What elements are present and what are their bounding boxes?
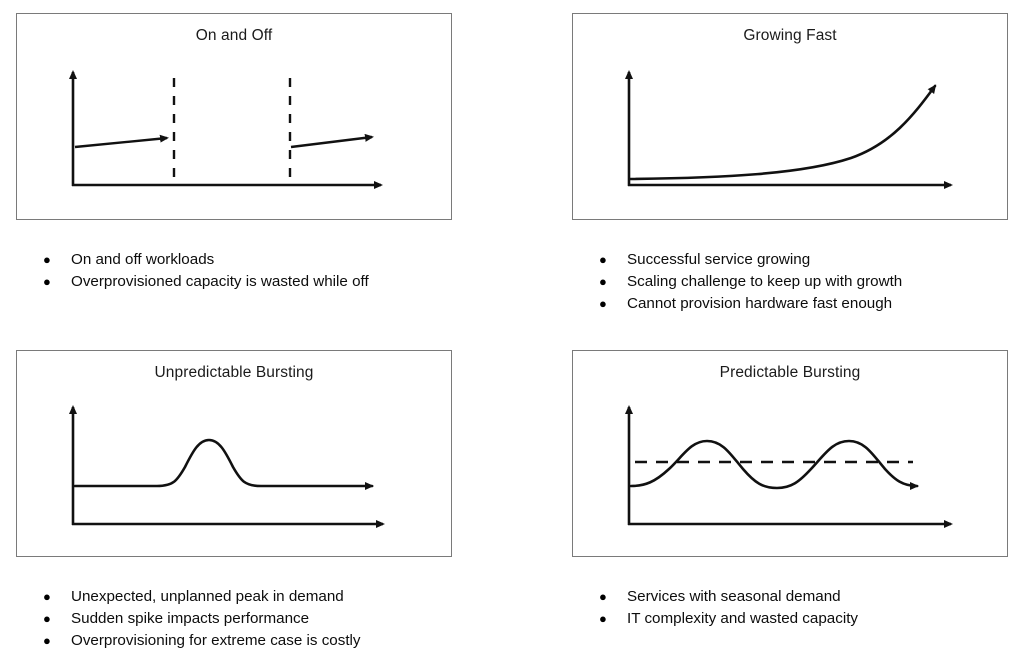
list-item: ● IT complexity and wasted capacity [599,608,858,630]
chart-on-and-off [17,48,453,218]
bullet-icon: ● [43,249,71,271]
bullet-icon: ● [43,586,71,608]
list-item: ● Cannot provision hardware fast enough [599,293,902,315]
list-item: ● Overprovisioned capacity is wasted whi… [43,271,369,293]
list-item: ● Unexpected, unplanned peak in demand [43,586,361,608]
bullet-icon: ● [43,630,71,652]
workload-pattern-grid: On and Off [0,0,1024,663]
bullet-text: IT complexity and wasted capacity [627,608,858,630]
chart-unpredictable-bursting [17,385,453,555]
bullet-icon: ● [43,608,71,630]
seasonal-demand-curve [631,441,917,488]
bullet-icon: ● [599,586,627,608]
list-item: ● Overprovisioning for extreme case is c… [43,630,361,652]
chart-title-unpredictable-bursting: Unpredictable Bursting [17,363,451,382]
bullet-list-growing-fast: ● Successful service growing ● Scaling c… [599,249,902,315]
chart-card-on-and-off: On and Off [16,13,452,220]
bullet-text: Cannot provision hardware fast enough [627,293,892,315]
panel-growing-fast: Growing Fast ● Successful service growin… [572,13,1008,220]
usage-segment-1 [75,138,167,147]
chart-growing-fast [573,48,1009,218]
bullet-list-on-and-off: ● On and off workloads ● Overprovisioned… [43,249,369,293]
bullet-text: Overprovisioned capacity is wasted while… [71,271,369,293]
list-item: ● Sudden spike impacts performance [43,608,361,630]
bullet-text: Scaling challenge to keep up with growth [627,271,902,293]
bullet-text: Unexpected, unplanned peak in demand [71,586,344,608]
exponential-growth-curve [630,86,935,179]
bullet-text: Overprovisioning for extreme case is cos… [71,630,361,652]
chart-card-predictable-bursting: Predictable Bursting [572,350,1008,557]
chart-title-predictable-bursting: Predictable Bursting [573,363,1007,382]
chart-title-growing-fast: Growing Fast [573,26,1007,45]
bullet-list-predictable-bursting: ● Services with seasonal demand ● IT com… [599,586,858,630]
list-item: ● On and off workloads [43,249,369,271]
bullet-text: Successful service growing [627,249,810,271]
panel-on-and-off: On and Off [16,13,452,220]
bullet-icon: ● [599,271,627,293]
list-item: ● Successful service growing [599,249,902,271]
chart-card-growing-fast: Growing Fast [572,13,1008,220]
chart-predictable-bursting [573,385,1009,555]
panel-unpredictable-bursting: Unpredictable Bursting ● Unexpected, unp… [16,350,452,557]
bullet-icon: ● [599,608,627,630]
bullet-icon: ● [43,271,71,293]
bullet-text: Sudden spike impacts performance [71,608,309,630]
list-item: ● Services with seasonal demand [599,586,858,608]
panel-predictable-bursting: Predictable Bursting ● Services with sea… [572,350,1008,557]
chart-card-unpredictable-bursting: Unpredictable Bursting [16,350,452,557]
demand-spike-curve [75,440,372,486]
usage-segment-2 [291,137,372,147]
list-item: ● Scaling challenge to keep up with grow… [599,271,902,293]
chart-title-on-and-off: On and Off [17,26,451,45]
bullet-icon: ● [599,293,627,315]
bullet-text: Services with seasonal demand [627,586,841,608]
bullet-text: On and off workloads [71,249,214,271]
bullet-icon: ● [599,249,627,271]
bullet-list-unpredictable-bursting: ● Unexpected, unplanned peak in demand ●… [43,586,361,652]
